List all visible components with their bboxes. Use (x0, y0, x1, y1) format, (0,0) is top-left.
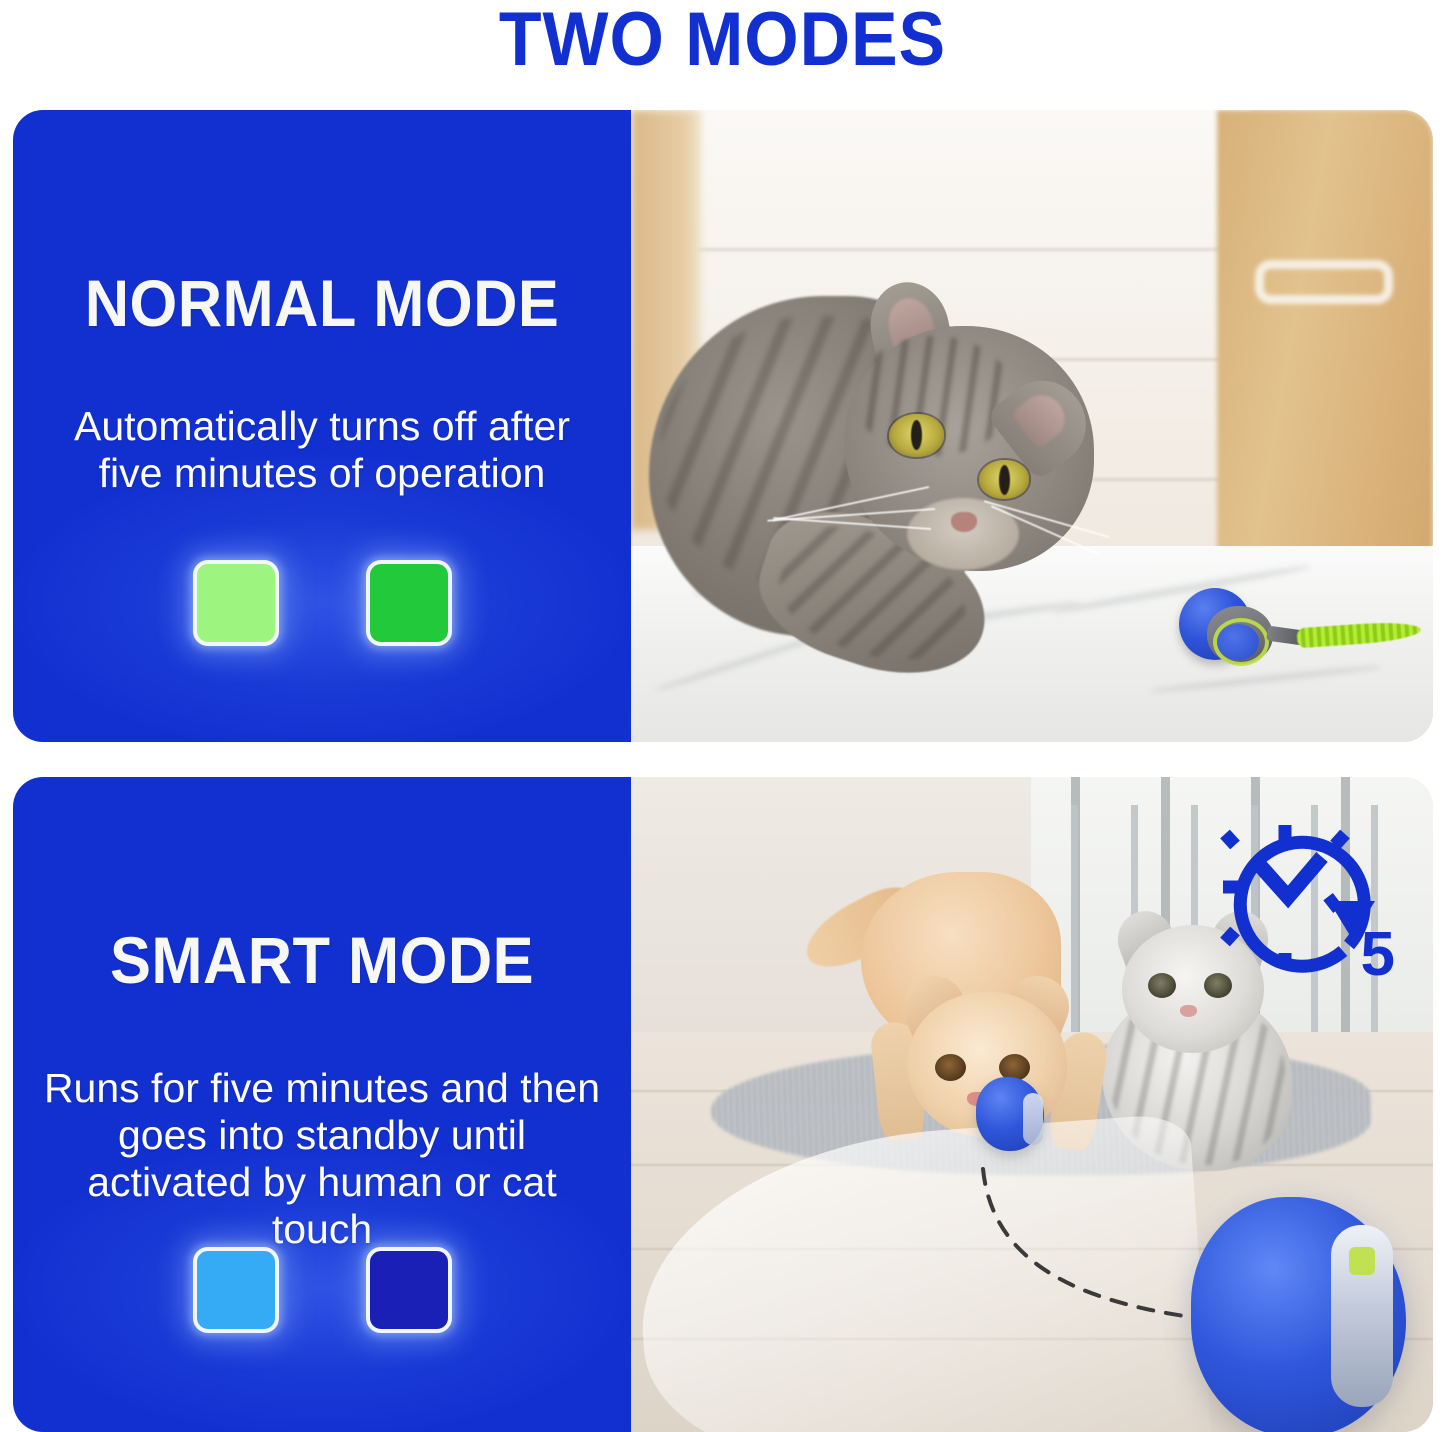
smart-mode-description-line-3: activated by human or cat touch (43, 1159, 601, 1253)
color-swatch-light-green[interactable] (193, 560, 279, 646)
smart-mode-description-line-1: Runs for five minutes and then (43, 1065, 601, 1112)
smart-mode-photo: 5 (631, 777, 1433, 1432)
smart-mode-description-line-2: goes into standby until (43, 1112, 601, 1159)
normal-mode-description: Automatically turns off after five minut… (43, 403, 601, 497)
toy-tail (1296, 620, 1421, 649)
normal-mode-description-line-1: Automatically turns off after (43, 403, 601, 450)
timer-badge: 5 (1211, 813, 1401, 988)
smart-mode-swatch-strip (13, 1247, 631, 1333)
grey-tabby-cat (649, 236, 1179, 676)
normal-mode-description-line-2: five minutes of operation (43, 450, 601, 497)
mode-section-normal: NORMAL MODE Automatically turns off afte… (13, 110, 1433, 742)
normal-mode-swatch-strip (13, 560, 631, 646)
smart-mode-info-panel: SMART MODE Runs for five minutes and the… (13, 777, 631, 1432)
cabinet-handle (1255, 260, 1393, 304)
color-swatch-dark-blue[interactable] (366, 1247, 452, 1333)
normal-mode-info-panel: NORMAL MODE Automatically turns off afte… (13, 110, 631, 742)
color-swatch-light-blue[interactable] (193, 1247, 279, 1333)
mode-section-smart: SMART MODE Runs for five minutes and the… (13, 777, 1433, 1432)
smart-mode-heading: SMART MODE (35, 925, 610, 995)
ball-toy (1179, 588, 1429, 678)
normal-mode-heading: NORMAL MODE (35, 268, 610, 338)
page-title: TWO MODES (58, 0, 1387, 84)
ball-toy-distant-band (1023, 1093, 1043, 1145)
smart-mode-description: Runs for five minutes and then goes into… (43, 1065, 601, 1253)
ball-toy-foreground-accent (1349, 1247, 1375, 1275)
normal-mode-photo (631, 110, 1433, 742)
orange-kitten (831, 872, 1141, 1202)
timer-value: 5 (1361, 924, 1395, 986)
color-swatch-green[interactable] (366, 560, 452, 646)
